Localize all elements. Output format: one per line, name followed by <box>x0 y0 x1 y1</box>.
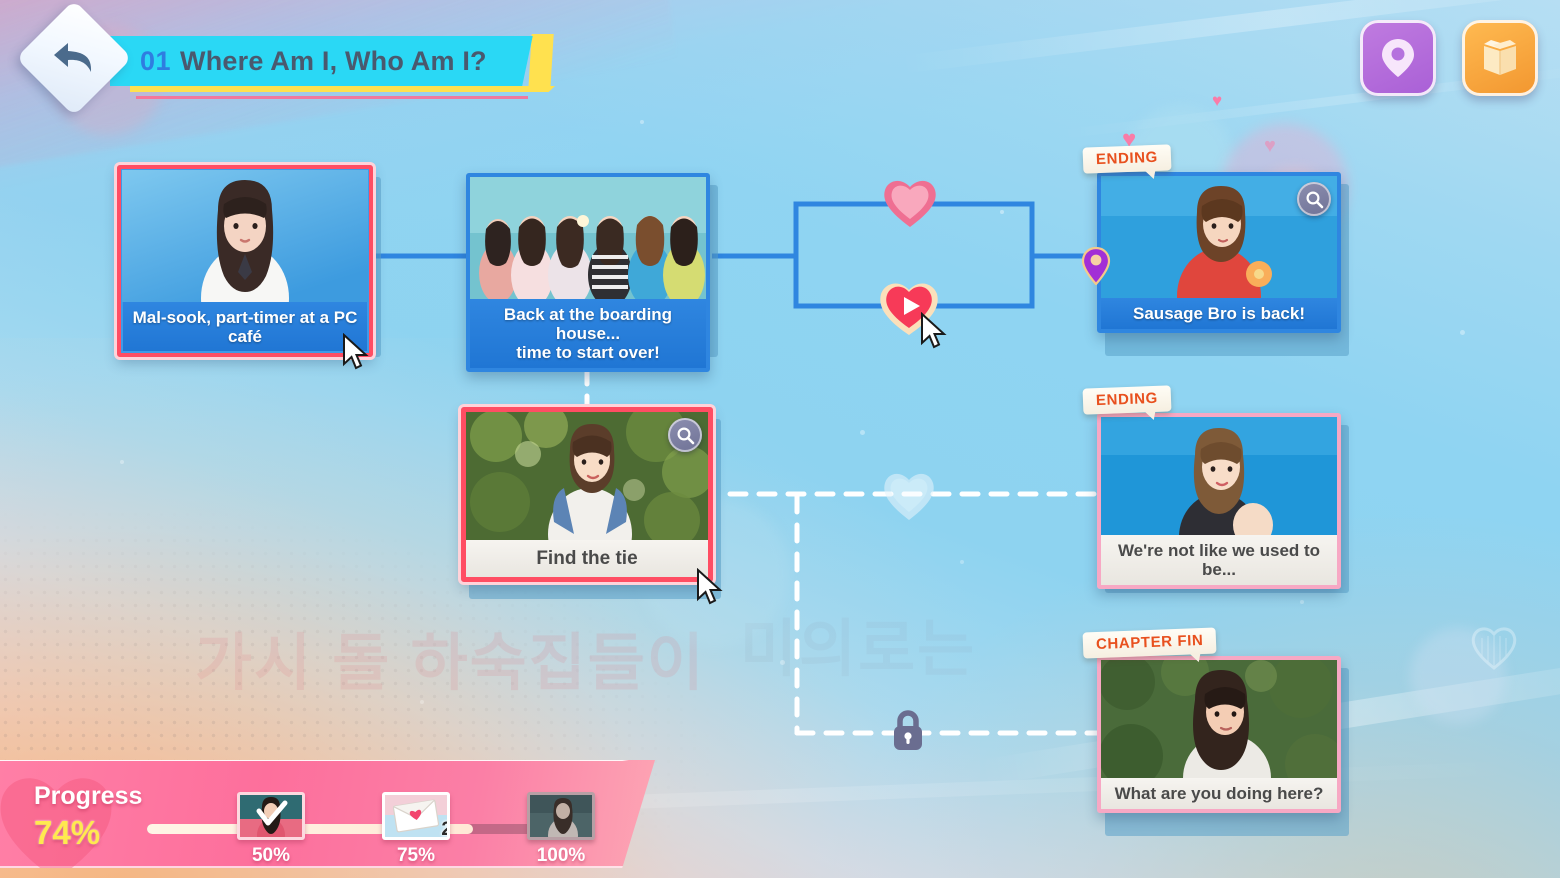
background-ghost-text: 가시 돌 하숙집들이 <box>195 612 706 702</box>
ending-badge: ENDING <box>1083 385 1172 414</box>
story-branch-map: 가시 돌 하숙집들이 미의로는 ♥ ♥ ♥ <box>0 0 1560 878</box>
chapter-title-banner: 01 Where Am I, Who Am I? <box>110 36 533 86</box>
milestone-50[interactable]: 50% <box>235 792 307 867</box>
search-button[interactable] <box>668 418 702 452</box>
card-caption: Back at the boarding house... time to st… <box>470 299 706 368</box>
inventory-button[interactable] <box>1462 20 1538 96</box>
progress-value: 74% <box>34 814 100 852</box>
map-button[interactable] <box>1360 20 1436 96</box>
back-arrow-icon <box>33 17 115 99</box>
story-card-find-the-tie[interactable]: Find the tie <box>461 407 713 582</box>
back-button[interactable] <box>16 0 132 116</box>
card-frame: Sausage Bro is back! <box>1097 172 1341 333</box>
chapter-fin-badge: CHAPTER FIN <box>1083 627 1217 658</box>
search-button[interactable] <box>1297 182 1331 216</box>
card-thumbnail <box>122 170 368 302</box>
heart-icon <box>880 175 940 231</box>
card-caption: Sausage Bro is back! <box>1101 298 1337 329</box>
card-caption: We're not like we used to be... <box>1101 535 1337 585</box>
map-pin-icon <box>1378 36 1418 80</box>
decorative-heart-outline-icon <box>1468 622 1520 672</box>
milestone-label: 50% <box>235 845 307 867</box>
card-thumbnail <box>1101 660 1337 778</box>
search-icon <box>676 426 695 445</box>
card-frame: Find the tie <box>461 407 713 582</box>
milestone-thumbnail <box>237 792 305 840</box>
card-caption: What are you doing here? <box>1101 778 1337 809</box>
progress-track <box>147 824 587 834</box>
card-frame: What are you doing here? <box>1097 656 1341 813</box>
milestone-100[interactable]: 100% <box>525 792 597 867</box>
story-card-malsook[interactable]: Mal-sook, part-timer at a PC café <box>117 165 373 357</box>
lock-icon <box>888 707 928 753</box>
heart-play-node[interactable] <box>876 277 942 344</box>
card-caption: Mal-sook, part-timer at a PC café <box>122 302 368 352</box>
card-thumbnail <box>470 177 706 299</box>
decorative-heart-icon: ♥ <box>1212 92 1222 109</box>
heart-node-top[interactable] <box>880 175 940 236</box>
milestone-thumbnail: 2 <box>382 792 450 840</box>
heart-locked-icon <box>880 468 938 524</box>
milestone-75[interactable]: 2 75% <box>380 792 452 867</box>
package-box-icon <box>1479 37 1521 79</box>
card-frame: We're not like we used to be... <box>1097 413 1341 589</box>
title-underline-pink <box>136 96 528 99</box>
title-underline-yellow <box>130 86 555 92</box>
story-card-what-are-you-doing[interactable]: CHAPTER FIN <box>1097 656 1341 813</box>
story-card-sausage-bro[interactable]: ENDING <box>1097 172 1341 333</box>
map-pin-marker-icon <box>1081 247 1111 285</box>
progress-label: Progress <box>34 782 142 811</box>
milestone-label: 75% <box>380 845 452 867</box>
lock-node[interactable] <box>888 707 928 758</box>
chapter-number: 01 <box>140 46 171 77</box>
milestone-count: 2 <box>441 819 450 840</box>
progress-panel: Progress 74% 50% <box>0 760 655 868</box>
page-title: Where Am I, Who Am I? <box>180 46 487 77</box>
card-thumbnail <box>1101 417 1337 535</box>
top-right-buttons <box>1360 20 1538 96</box>
story-card-not-like-before[interactable]: ENDING We're not like we used to be... <box>1097 413 1341 589</box>
decorative-heart-icon: ♥ <box>1264 136 1276 156</box>
story-card-boarding-house[interactable]: Back at the boarding house... time to st… <box>466 173 710 372</box>
search-icon <box>1305 190 1324 209</box>
title-banner-edge <box>528 34 553 90</box>
card-frame: Back at the boarding house... time to st… <box>466 173 710 372</box>
heart-play-icon <box>876 277 942 339</box>
card-caption: Find the tie <box>466 540 708 577</box>
ending-badge: ENDING <box>1083 144 1172 173</box>
milestone-label: 100% <box>525 845 597 867</box>
heart-node-locked[interactable] <box>880 468 938 529</box>
milestone-thumbnail <box>527 792 595 840</box>
card-frame: Mal-sook, part-timer at a PC café <box>117 165 373 357</box>
